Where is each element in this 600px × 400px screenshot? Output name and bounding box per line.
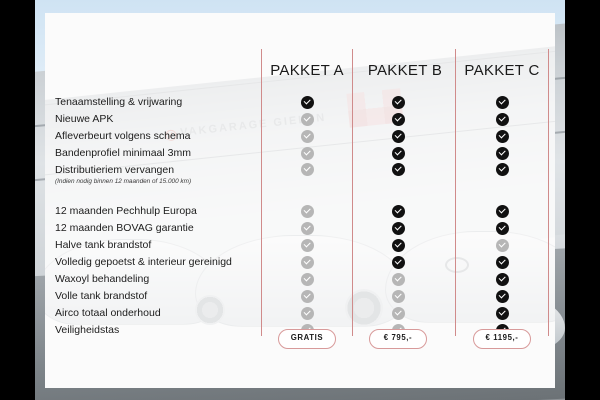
letterbox-bar-right <box>565 0 600 400</box>
check-included-icon <box>496 96 509 109</box>
check-excluded-icon <box>301 273 314 286</box>
check-included-icon <box>392 239 405 252</box>
price-button-pakket-c[interactable]: € 1195,- <box>473 329 532 349</box>
check-included-icon <box>392 205 405 218</box>
check-cell-b <box>352 203 444 220</box>
check-excluded-icon <box>301 113 314 126</box>
feature-row: Distributieriem vervangen(Indien nodig b… <box>55 162 270 190</box>
check-excluded-icon <box>392 307 405 320</box>
screenshot-stage: VVAKGARAGE GIELEN PAKKET A PAKKET B PAKK… <box>0 0 600 400</box>
check-cell-b <box>352 237 444 254</box>
feature-note: (Indien nodig binnen 12 maanden of 15.00… <box>55 176 270 187</box>
check-cell-b <box>352 271 444 288</box>
check-cell-c <box>456 271 548 288</box>
check-cell-b <box>352 305 444 322</box>
check-included-icon <box>392 147 405 160</box>
check-group-spacer <box>456 190 548 203</box>
check-cell-b <box>352 94 444 111</box>
feature-label: Distributieriem vervangen <box>55 164 174 176</box>
feature-row: Waxoyl behandeling <box>55 271 270 288</box>
feature-row: Volle tank brandstof <box>55 288 270 305</box>
check-included-icon <box>496 307 509 320</box>
check-included-icon <box>496 163 509 176</box>
feature-row: Halve tank brandstof <box>55 237 270 254</box>
check-cell-b <box>352 162 444 190</box>
check-excluded-icon <box>301 130 314 143</box>
feature-row: Airco totaal onderhoud <box>55 305 270 322</box>
check-cell-b <box>352 254 444 271</box>
check-cell-c <box>456 305 548 322</box>
check-cell-a <box>261 203 353 220</box>
column-header-pakket-b: PAKKET B <box>355 63 455 78</box>
check-included-icon <box>496 113 509 126</box>
check-included-icon <box>392 113 405 126</box>
check-included-icon <box>496 147 509 160</box>
check-cell-b <box>352 145 444 162</box>
check-excluded-icon <box>301 256 314 269</box>
check-cell-a <box>261 220 353 237</box>
check-excluded-icon <box>392 273 405 286</box>
check-cell-b <box>352 220 444 237</box>
feature-row: Afleverbeurt volgens schema <box>55 128 270 145</box>
check-excluded-icon <box>301 290 314 303</box>
check-included-icon <box>301 96 314 109</box>
check-included-icon <box>392 96 405 109</box>
check-cell-a <box>261 288 353 305</box>
package-comparison-card: VVAKGARAGE GIELEN PAKKET A PAKKET B PAKK… <box>45 13 555 388</box>
check-excluded-icon <box>301 239 314 252</box>
price-button-pakket-a[interactable]: GRATIS <box>278 329 336 349</box>
check-included-icon <box>496 256 509 269</box>
check-cell-b <box>352 288 444 305</box>
check-included-icon <box>392 256 405 269</box>
check-excluded-icon <box>301 222 314 235</box>
feature-row: Tenaamstelling & vrijwaring <box>55 94 270 111</box>
check-column-pakket-c <box>456 94 548 339</box>
check-cell-c <box>456 111 548 128</box>
check-excluded-icon <box>301 307 314 320</box>
check-cell-c <box>456 128 548 145</box>
check-included-icon <box>496 290 509 303</box>
check-cell-c <box>456 162 548 190</box>
comparison-table: PAKKET A PAKKET B PAKKET C Tenaamstellin… <box>45 13 555 388</box>
price-row-pakket-b: € 795,- <box>352 329 444 349</box>
feature-label-column: Tenaamstelling & vrijwaring Nieuwe APK A… <box>55 94 270 339</box>
check-cell-c <box>456 145 548 162</box>
check-group-spacer <box>261 190 353 203</box>
check-cell-a <box>261 271 353 288</box>
check-column-pakket-b <box>352 94 444 339</box>
check-group-spacer <box>352 190 444 203</box>
check-cell-a <box>261 94 353 111</box>
check-cell-a <box>261 111 353 128</box>
column-header-pakket-a: PAKKET A <box>261 63 353 78</box>
price-button-pakket-b[interactable]: € 795,- <box>369 329 427 349</box>
price-row-pakket-a: GRATIS <box>261 329 353 349</box>
check-included-icon <box>496 130 509 143</box>
feature-row: 12 maanden BOVAG garantie <box>55 220 270 237</box>
check-included-icon <box>392 130 405 143</box>
check-included-icon <box>496 273 509 286</box>
check-included-icon <box>496 222 509 235</box>
check-included-icon <box>392 222 405 235</box>
check-cell-a <box>261 162 353 190</box>
check-cell-a <box>261 305 353 322</box>
feature-row: 12 maanden Pechhulp Europa <box>55 203 270 220</box>
check-cell-c <box>456 254 548 271</box>
column-divider-4 <box>548 49 549 336</box>
check-cell-c <box>456 288 548 305</box>
check-cell-c <box>456 237 548 254</box>
price-row-pakket-c: € 1195,- <box>456 329 548 349</box>
check-cell-a <box>261 145 353 162</box>
letterbox-bar-left <box>0 0 35 400</box>
check-included-icon <box>496 205 509 218</box>
check-cell-a <box>261 237 353 254</box>
feature-row: Veiligheidstas <box>55 322 270 339</box>
feature-row: Volledig gepoetst & interieur gereinigd <box>55 254 270 271</box>
check-excluded-icon <box>301 163 314 176</box>
group-spacer <box>55 190 270 203</box>
check-excluded-icon <box>496 239 509 252</box>
check-cell-a <box>261 128 353 145</box>
feature-row: Nieuwe APK <box>55 111 270 128</box>
check-cell-a <box>261 254 353 271</box>
check-column-pakket-a <box>261 94 353 339</box>
feature-row: Bandenprofiel minimaal 3mm <box>55 145 270 162</box>
check-excluded-icon <box>392 290 405 303</box>
check-cell-b <box>352 111 444 128</box>
check-excluded-icon <box>301 147 314 160</box>
column-header-pakket-c: PAKKET C <box>456 63 548 78</box>
check-included-icon <box>392 163 405 176</box>
check-cell-c <box>456 94 548 111</box>
check-excluded-icon <box>301 205 314 218</box>
check-cell-c <box>456 220 548 237</box>
check-cell-b <box>352 128 444 145</box>
check-cell-c <box>456 203 548 220</box>
